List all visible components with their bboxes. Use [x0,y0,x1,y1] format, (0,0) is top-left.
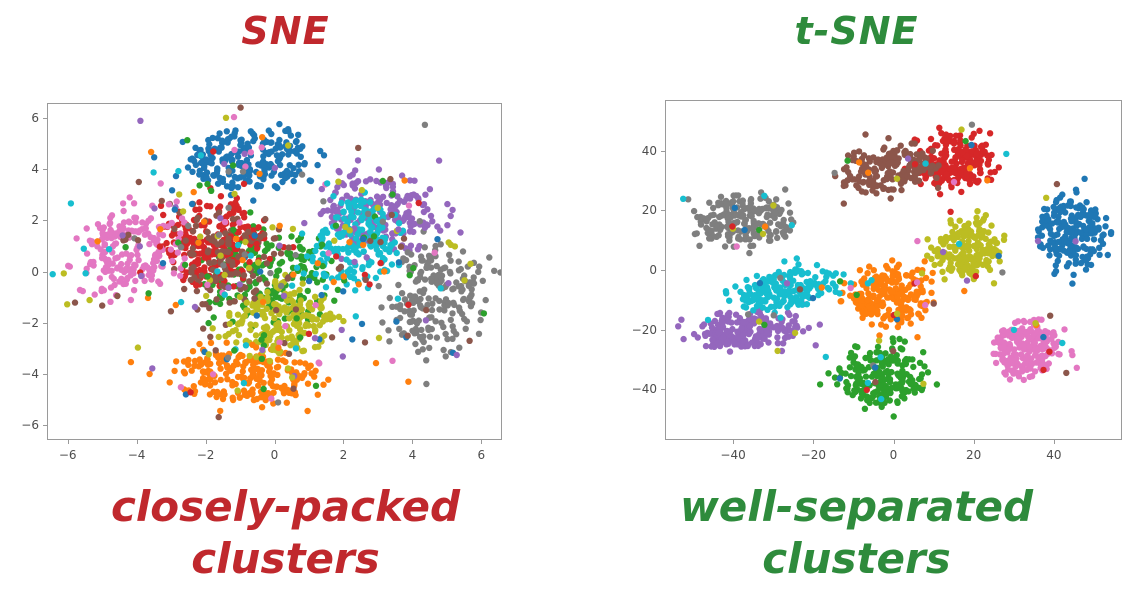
y-tick-label: 20 [625,203,657,217]
x-tick-mark [343,440,344,444]
x-tick-label: 20 [966,448,981,462]
sne-plot-area [47,103,502,440]
x-tick-label: −20 [801,448,826,462]
sne-scatter-canvas [48,104,502,440]
panel-title-sne: SNE [0,4,571,58]
y-tick-label: 6 [7,111,39,125]
panel-caption-tsne-line2: clusters [571,535,1142,583]
y-tick-label: −20 [625,323,657,337]
y-tick-label: −40 [625,382,657,396]
x-tick-label: −4 [128,448,146,462]
x-tick-mark [813,440,814,444]
tsne-plot-area [665,100,1122,440]
x-tick-label: −6 [59,448,77,462]
y-tick-label: −2 [7,316,39,330]
x-tick-label: 0 [271,448,279,462]
x-tick-mark [894,440,895,444]
panel-caption-tsne-line1: well-separated [571,483,1142,531]
x-tick-mark [1054,440,1055,444]
y-tick-label: 4 [7,162,39,176]
x-tick-mark [412,440,413,444]
y-tick-label: 0 [625,263,657,277]
tsne-scatter-canvas [666,101,1122,440]
x-tick-label: 40 [1046,448,1061,462]
x-tick-label: 2 [340,448,348,462]
x-tick-mark [275,440,276,444]
x-tick-label: 6 [477,448,485,462]
figure-root: SNE −6−4−20246−6−4−20246 closely-packed … [0,0,1142,614]
panel-caption-sne-line1: closely-packed [0,483,571,531]
x-tick-label: −40 [720,448,745,462]
x-tick-mark [733,440,734,444]
y-tick-label: 0 [7,265,39,279]
x-tick-mark [68,440,69,444]
x-tick-mark [206,440,207,444]
x-tick-label: −2 [197,448,215,462]
y-tick-label: −6 [7,418,39,432]
y-tick-label: 2 [7,213,39,227]
panel-title-tsne: t-SNE [571,4,1142,58]
x-tick-mark [974,440,975,444]
x-tick-label: 4 [409,448,417,462]
panel-caption-sne-line2: clusters [0,535,571,583]
x-tick-mark [481,440,482,444]
y-tick-label: −4 [7,367,39,381]
panel-tsne: t-SNE −40−2002040−40−2002040 well-separa… [571,0,1142,614]
panel-sne: SNE −6−4−20246−6−4−20246 closely-packed … [0,0,571,614]
x-tick-mark [137,440,138,444]
y-tick-label: 40 [625,144,657,158]
x-tick-label: 0 [890,448,898,462]
